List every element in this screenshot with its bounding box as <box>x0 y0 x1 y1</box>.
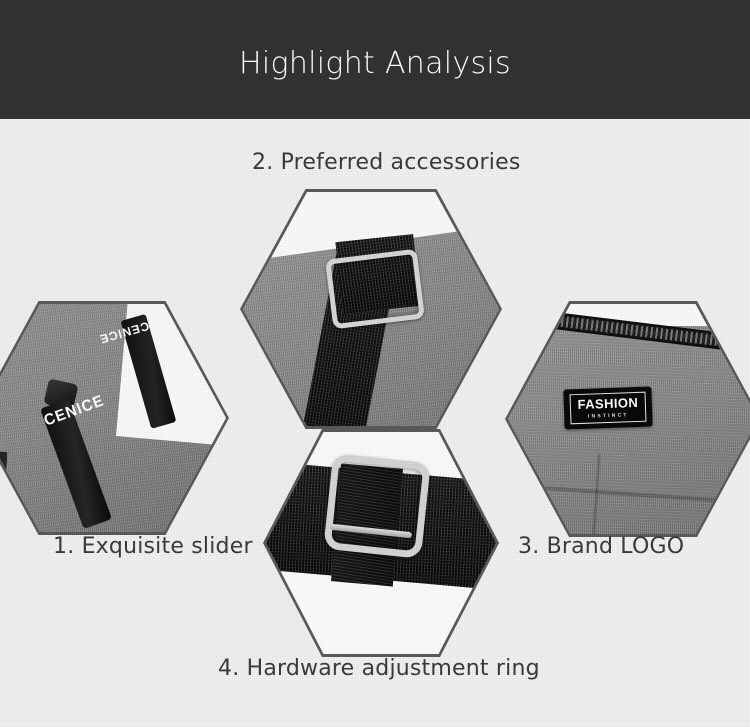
brand-patch-main-text: FASHION <box>577 396 638 411</box>
brand-patch: FASHION INSTINCT <box>563 386 652 429</box>
brand-side-tab-text: CENICE <box>122 319 151 340</box>
page-title: Highlight Analysis <box>0 46 750 81</box>
metal-d-ring <box>325 249 425 330</box>
caption-exquisite-slider: 1. Exquisite slider <box>53 534 253 559</box>
photo-panel-preferred-accessories[interactable] <box>243 192 499 426</box>
metal-adjustment-ring <box>323 453 430 559</box>
photo-panel-exquisite-slider[interactable]: CENICE CENICE <box>0 304 226 532</box>
zipper-pull-tab: CENICE <box>40 399 112 530</box>
caption-hardware-adjustment-ring: 4. Hardware adjustment ring <box>218 656 540 681</box>
brand-patch-sub-text: INSTINCT <box>588 412 629 419</box>
photo-slider: CENICE CENICE <box>0 304 226 532</box>
bag-fabric: CENICE CENICE <box>0 304 226 532</box>
infographic-page: Highlight Analysis CENICE <box>0 0 750 727</box>
caption-brand-logo: 3. Brand LOGO <box>518 534 684 559</box>
photo-panel-brand-logo[interactable]: FASHION INSTINCT <box>508 304 750 534</box>
photo-brand-logo: FASHION INSTINCT <box>508 304 750 534</box>
header-banner: Highlight Analysis <box>0 0 750 119</box>
photo-adjustment-ring <box>266 432 496 654</box>
photo-panel-hardware-adjustment-ring[interactable] <box>266 432 496 654</box>
brand-patch-frame: FASHION INSTINCT <box>569 392 646 425</box>
zipper-pull-text: CENICE <box>42 404 76 431</box>
caption-preferred-accessories: 2. Preferred accessories <box>252 150 521 175</box>
photo-accessories <box>243 192 499 426</box>
